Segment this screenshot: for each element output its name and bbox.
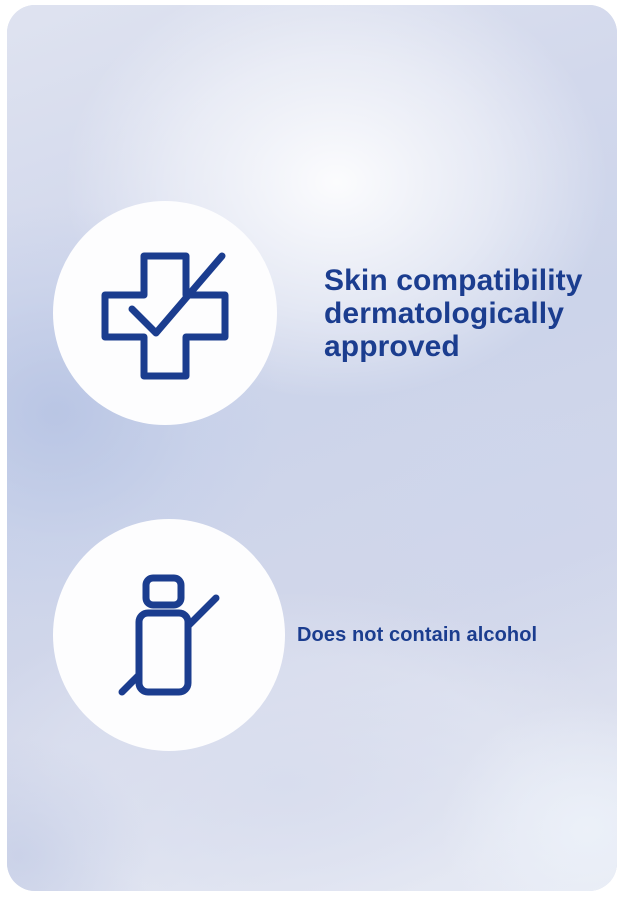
feature-item-skin-compatibility: Skin compatibility dermatologically appr… xyxy=(53,201,592,425)
background-shade-bottom-left xyxy=(7,5,617,891)
feature-card: Skin compatibility dermatologically appr… xyxy=(7,5,617,891)
feature-label-skin-compatibility: Skin compatibility dermatologically appr… xyxy=(324,264,592,363)
background-wash-bottom xyxy=(7,5,617,891)
background-gradient-base xyxy=(7,5,617,891)
background-highlight-top xyxy=(7,5,617,891)
feature-item-no-alcohol: Does not contain alcohol xyxy=(53,519,537,751)
icon-circle-skin-compatibility xyxy=(53,201,277,425)
background-shade-left xyxy=(7,5,617,891)
background-shade-right xyxy=(7,5,617,891)
icon-circle-no-alcohol xyxy=(53,519,285,751)
background-highlight-bottom-right xyxy=(7,5,617,891)
feature-label-no-alcohol: Does not contain alcohol xyxy=(297,623,537,647)
medical-cross-check-icon xyxy=(90,238,240,388)
bottle-no-alcohol-icon xyxy=(94,560,244,710)
